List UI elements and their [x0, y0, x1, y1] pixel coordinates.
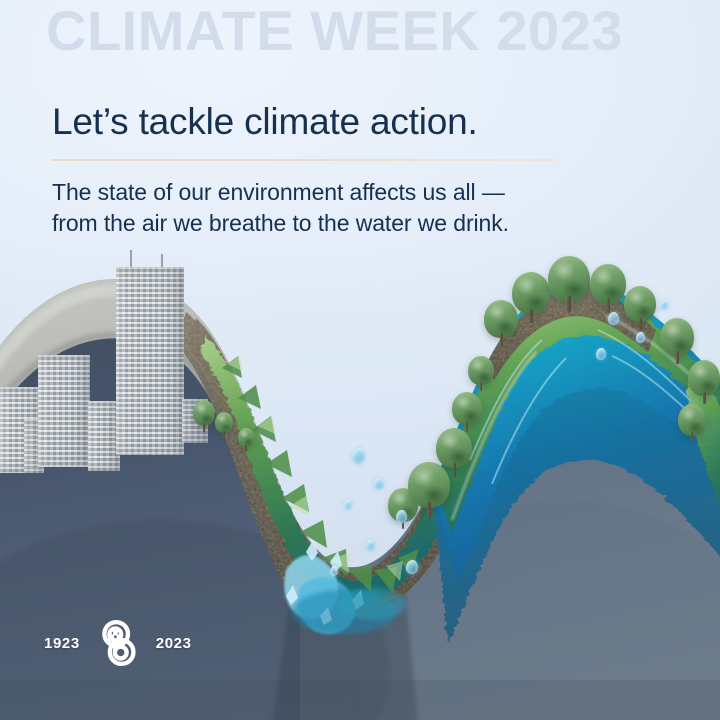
tree [548, 256, 590, 302]
water-droplet [596, 348, 606, 360]
page-title: Let’s tackle climate action. [52, 100, 478, 144]
water-droplet [396, 510, 407, 523]
water-droplet [344, 500, 352, 510]
kicker-title: CLIMATE WEEK 2023 [46, 2, 623, 61]
water-droplet [608, 312, 619, 325]
water-droplet [406, 560, 418, 574]
tree [436, 428, 472, 468]
tree [193, 400, 215, 426]
water-droplet [374, 478, 384, 490]
logo-year-end: 2023 [156, 635, 192, 652]
tree [624, 286, 656, 322]
climate-week-poster: CLIMATE WEEK 2023 Let’s tackle climate a… [0, 0, 720, 720]
tree [512, 272, 550, 314]
tree [660, 318, 694, 356]
centennial-knot-icon [89, 614, 147, 672]
subheadline-line-1: The state of our environment affects us … [52, 177, 509, 208]
building-tower [116, 267, 184, 455]
tree [468, 356, 494, 385]
water-droplet [660, 300, 668, 310]
tree [590, 264, 626, 304]
tree [238, 428, 254, 447]
centennial-logo: 1923 2023 [44, 614, 192, 672]
building-block [38, 355, 90, 467]
water-droplet [330, 566, 338, 576]
water-droplet [366, 540, 375, 551]
water-droplet [352, 448, 365, 464]
water-droplet [636, 332, 645, 343]
tree [678, 404, 706, 436]
tree [408, 462, 450, 508]
tree [688, 360, 720, 396]
logo-year-start: 1923 [44, 635, 80, 652]
tree [452, 392, 482, 425]
title-divider [52, 159, 555, 161]
subheadline-line-2: from the air we breathe to the water we … [52, 208, 509, 239]
city-skyline [0, 258, 250, 473]
tree [484, 300, 518, 338]
subheadline: The state of our environment affects us … [52, 177, 509, 238]
tree [215, 412, 233, 433]
